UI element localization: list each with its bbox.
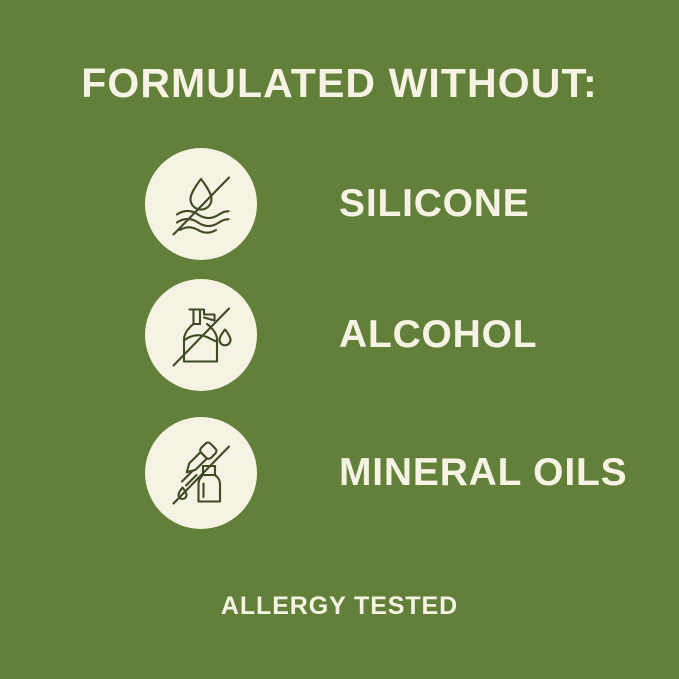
no-silicone-badge <box>145 148 257 260</box>
allergy-tested-text: ALLERGY TESTED <box>0 592 679 621</box>
no-silicone-droplet-waves-icon <box>159 162 243 246</box>
page-title: FORMULATED WITHOUT: <box>0 62 679 105</box>
list-item: MINERAL OILS <box>0 417 679 529</box>
no-alcohol-badge <box>145 279 257 391</box>
no-mineral-oils-dropper-bottle-icon <box>159 431 243 515</box>
list-item: ALCOHOL <box>0 279 679 391</box>
formulated-without-panel: FORMULATED WITHOUT: SILICONE <box>0 0 679 679</box>
list-item-label: SILICONE <box>339 182 530 226</box>
list-item: SILICONE <box>0 148 679 260</box>
no-mineral-oils-badge <box>145 417 257 529</box>
list-item-label: MINERAL OILS <box>339 451 627 495</box>
list-item-label: ALCOHOL <box>339 313 537 357</box>
no-alcohol-pump-bottle-icon <box>159 293 243 377</box>
